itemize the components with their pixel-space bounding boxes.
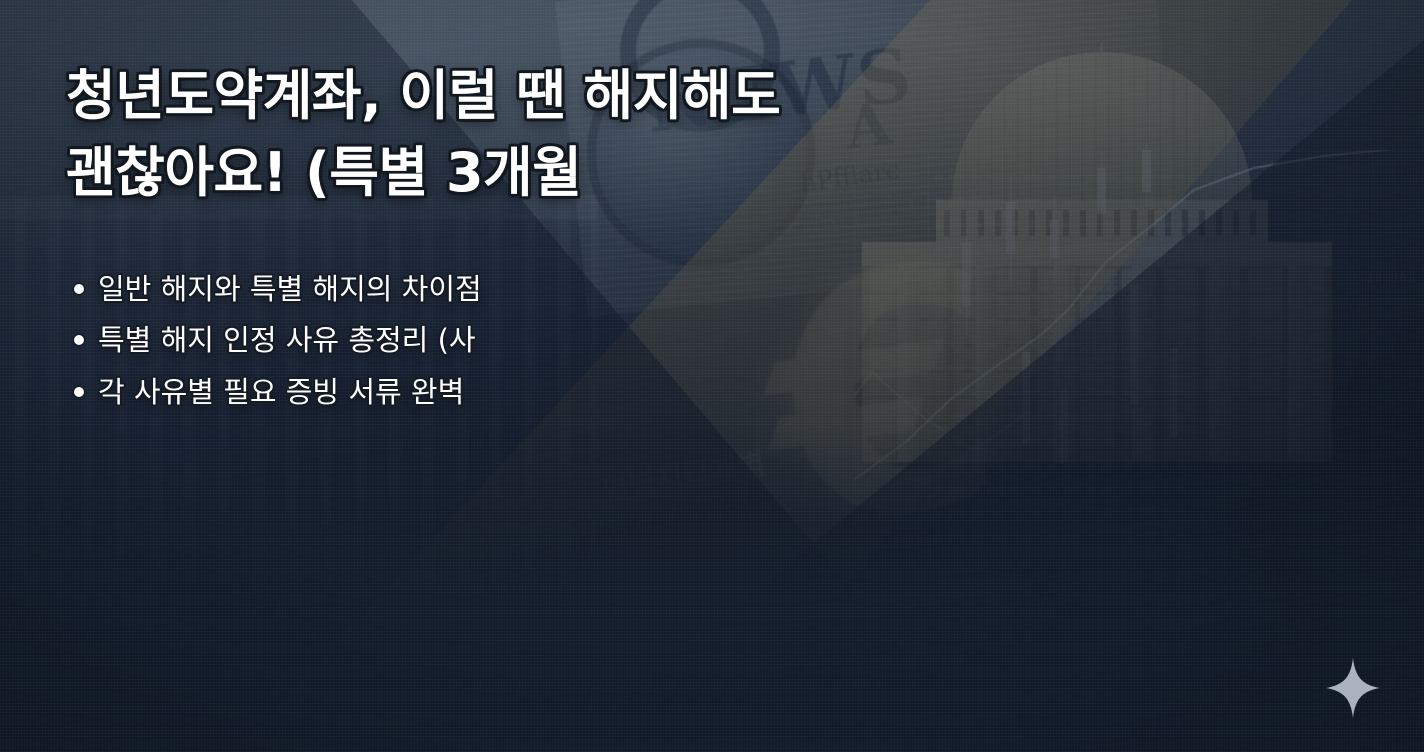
list-item: 특별 해지 인정 사유 총정리 (사	[66, 318, 766, 362]
slide-content: 청년도약계좌, 이럴 땐 해지해도 괜찮아요! (특별 3개월 일반 해지와 특…	[66, 58, 1066, 421]
list-item: 일반 해지와 특별 해지의 차이점	[66, 267, 766, 311]
slide-canvas: NEWS A hPfflarc The institute of a discu…	[0, 0, 1424, 752]
slide-title: 청년도약계좌, 이럴 땐 해지해도 괜찮아요! (특별 3개월	[66, 58, 806, 211]
slide-bullet-list: 일반 해지와 특별 해지의 차이점 특별 해지 인정 사유 총정리 (사 각 사…	[66, 267, 766, 413]
sparkle-icon	[1326, 658, 1380, 718]
list-item: 각 사유별 필요 증빙 서류 완벽	[66, 370, 766, 414]
